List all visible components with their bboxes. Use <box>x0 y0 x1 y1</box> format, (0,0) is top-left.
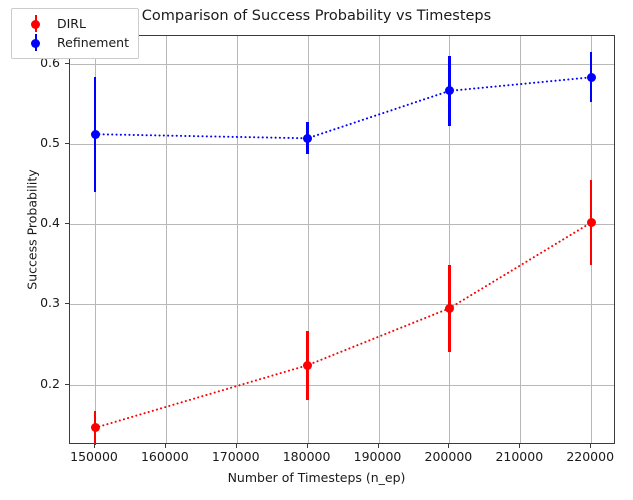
y-tick-mark <box>65 223 69 224</box>
data-point-dirl[interactable] <box>445 304 454 313</box>
legend-item-refinement[interactable]: Refinement <box>19 33 129 52</box>
plot-area <box>69 35 615 444</box>
data-point-refinement[interactable] <box>91 130 100 139</box>
data-point-dirl[interactable] <box>587 218 596 227</box>
x-tick-mark <box>448 444 449 448</box>
x-tick-mark <box>378 444 379 448</box>
legend-label-refinement: Refinement <box>53 35 129 50</box>
x-tick-mark <box>236 444 237 448</box>
y-axis-label: Success Probability <box>25 80 40 380</box>
y-tick-mark <box>65 384 69 385</box>
data-series-layer <box>70 36 614 443</box>
y-tick-mark <box>65 143 69 144</box>
series-connector-lines <box>70 36 614 443</box>
x-tick-mark <box>94 444 95 448</box>
y-tick-mark <box>65 303 69 304</box>
data-point-dirl[interactable] <box>303 361 312 370</box>
x-axis-label: Number of Timesteps (n_ep) <box>0 470 633 485</box>
x-tick-label: 220000 <box>545 449 633 464</box>
series-line-refinement <box>95 77 591 138</box>
y-tick-mark <box>65 63 69 64</box>
x-tick-mark <box>165 444 166 448</box>
legend-marker-refinement <box>19 34 53 51</box>
series-line-dirl <box>95 223 591 428</box>
x-tick-mark <box>590 444 591 448</box>
data-point-refinement[interactable] <box>303 134 312 143</box>
x-tick-mark <box>307 444 308 448</box>
x-tick-mark <box>519 444 520 448</box>
chart-figure: Comparison of Success Probability vs Tim… <box>0 0 633 500</box>
data-point-refinement[interactable] <box>587 73 596 82</box>
legend-marker-dirl <box>19 15 53 32</box>
legend-item-dirl[interactable]: DIRL <box>19 14 129 33</box>
legend-label-dirl: DIRL <box>53 16 86 31</box>
legend[interactable]: DIRL Refinement <box>11 8 139 59</box>
data-point-dirl[interactable] <box>91 423 100 432</box>
